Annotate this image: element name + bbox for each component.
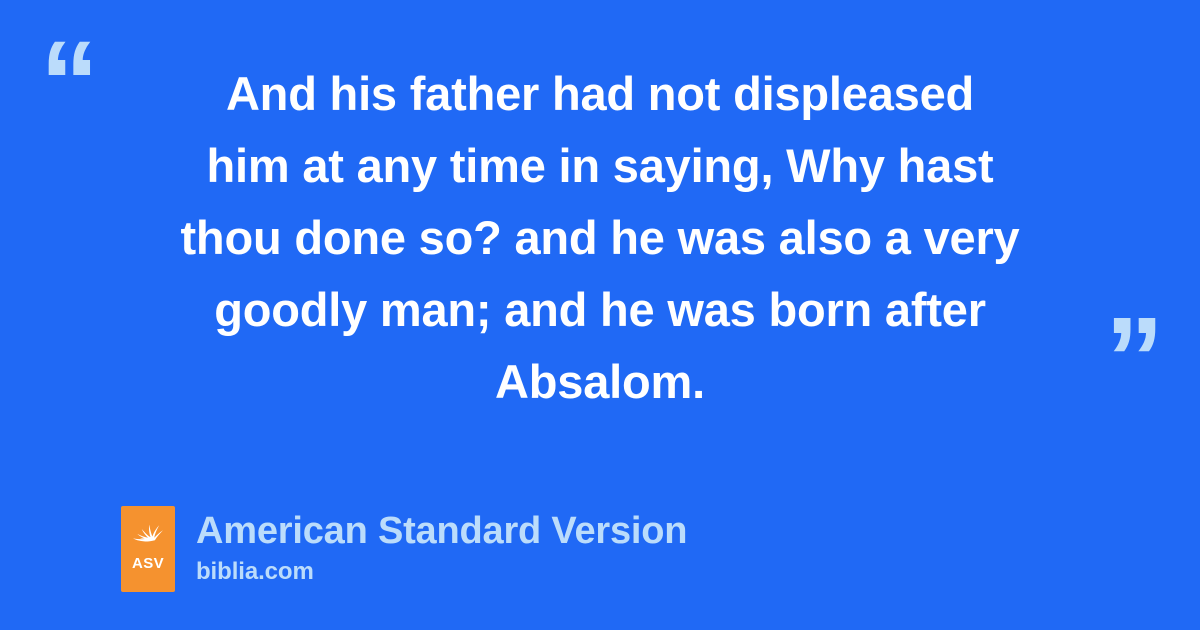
attribution-text: American Standard Version biblia.com	[196, 506, 687, 588]
closing-quote-icon: ”	[1105, 300, 1162, 418]
quote-text-block: And his father had not displeased him at…	[112, 58, 1088, 418]
quote-line: him at any time in saying, Why hast	[112, 130, 1088, 202]
quote-line: goodly man; and he was born after	[112, 274, 1088, 346]
site-url[interactable]: biblia.com	[196, 556, 687, 588]
asv-logo: ASV	[121, 506, 175, 592]
attribution: ASV American Standard Version biblia.com	[121, 506, 687, 592]
bible-verse-quote-card: “ And his father had not displeased him …	[0, 0, 1200, 630]
quote-line: thou done so? and he was also a very	[112, 202, 1088, 274]
bible-version-name: American Standard Version	[196, 508, 687, 554]
quote-line: Absalom.	[112, 346, 1088, 418]
flame-burst-icon	[128, 514, 168, 554]
quote-line: And his father had not displeased	[112, 58, 1088, 130]
asv-logo-text: ASV	[132, 556, 164, 571]
opening-quote-icon: “	[40, 24, 97, 142]
